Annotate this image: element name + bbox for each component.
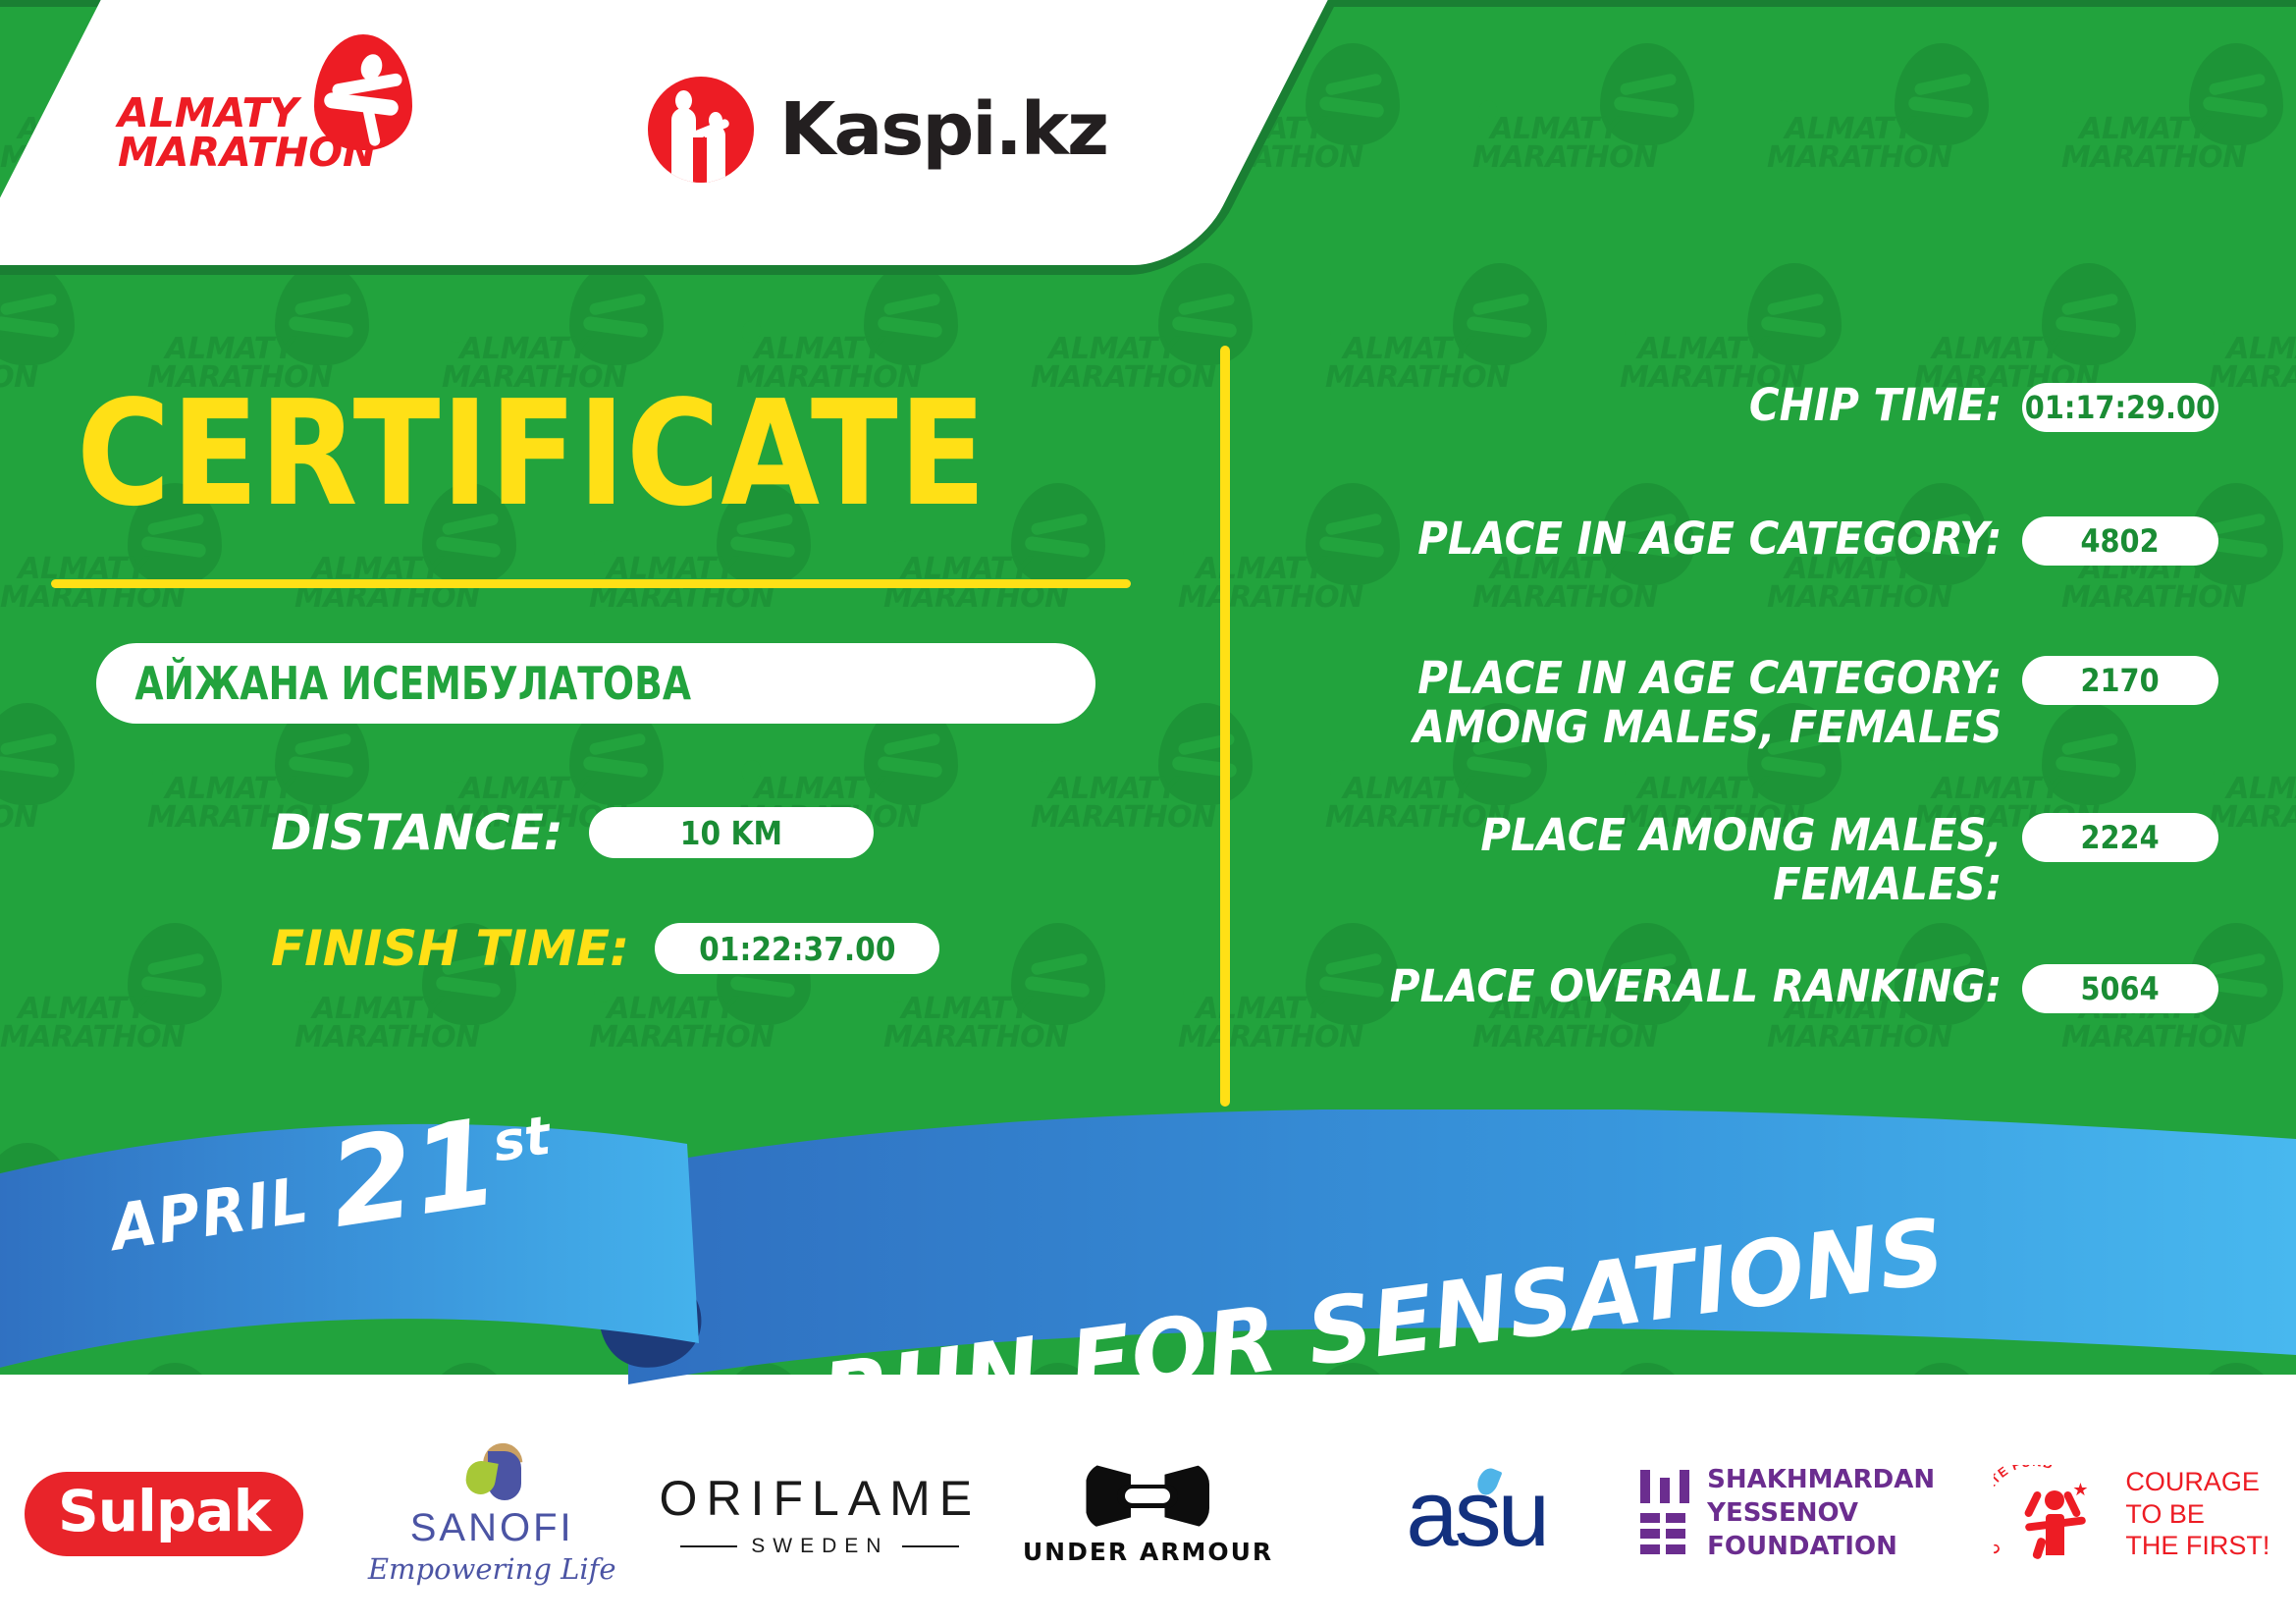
distance-value: 10 KM <box>680 814 782 852</box>
watermark-text: ALMATYMARATHON <box>1767 116 1914 172</box>
distance-row: DISTANCE: 10 KM <box>271 807 874 858</box>
sanofi-logo: SANOFI Empowering Life <box>368 1443 616 1586</box>
title-underline-rule <box>51 579 1131 588</box>
sponsor-courage-to-be-the-first: CORPORATE FUND ★ COURAGE TO BE THE FIRST… <box>1968 1445 2296 1583</box>
sanofi-tagline: Empowering Life <box>368 1552 616 1586</box>
athlete-name-field: АЙЖАНА ИСЕМБУЛАТОВА <box>96 643 1095 724</box>
oriflame-rule-left <box>680 1545 737 1547</box>
athlete-name-value: АЙЖАНА ИСЕМБУЛАТОВА <box>96 657 691 710</box>
courage-line2: TO BE <box>2125 1499 2205 1529</box>
asu-wordmark: asu <box>1406 1460 1546 1568</box>
watermark-text: ALMATYMARATHON <box>2061 116 2209 172</box>
almaty-marathon-drop-runner-icon <box>314 34 412 150</box>
watermark-tile: ALMATYMARATHON <box>1472 0 1767 221</box>
chip-time-label: CHIP TIME: <box>1328 381 2022 430</box>
finish-time-value: 01:22:37.00 <box>699 930 895 968</box>
kaspi-family-circle-icon <box>648 77 754 183</box>
sponsor-bar: Sulpak SANOFI Empowering Life ORIFLAME S… <box>0 1404 2296 1624</box>
yessenov-line1: SHAKHMARDAN YESSENOV <box>1707 1465 1935 1528</box>
place-overall-ranking-row: PLACE OVERALL RANKING: 5064 <box>1276 962 2218 1013</box>
yessenov-bar <box>1666 1544 1685 1554</box>
courage-fund-logo: CORPORATE FUND ★ COURAGE TO BE THE FIRST… <box>1994 1465 2269 1563</box>
oriflame-wordmark: ORIFLAME <box>660 1470 982 1527</box>
kaspi-gap-shape <box>693 137 707 183</box>
place-age-category-gender-value: 2170 <box>2081 662 2160 699</box>
yessenov-bar <box>1640 1544 1660 1554</box>
almaty-marathon-logo: ALMATYMARATHON <box>118 34 412 172</box>
kaspi-wordmark: Kaspi.kz <box>779 87 1107 172</box>
place-among-gender-value: 2224 <box>2081 819 2160 856</box>
sponsor-asu: asu <box>1312 1445 1640 1583</box>
under-armour-icon <box>1086 1463 1209 1530</box>
page-title: CERTIFICATE <box>77 381 987 526</box>
place-age-category-gender-row: PLACE IN AGE CATEGORY: AMONG MALES, FEMA… <box>1276 654 2218 751</box>
finish-time-label: FINISH TIME: <box>271 924 629 973</box>
place-age-category-value: 4802 <box>2081 522 2160 560</box>
vertical-divider <box>1220 346 1230 1107</box>
sponsor-yessenov: SHAKHMARDAN YESSENOV FOUNDATION <box>1640 1445 1968 1583</box>
yessenov-bar <box>1660 1478 1670 1503</box>
distance-value-pill: 10 KM <box>589 807 874 858</box>
place-among-gender-row: PLACE AMONG MALES, FEMALES: 2224 <box>1276 811 2218 908</box>
place-age-category-gender-value-pill: 2170 <box>2022 656 2218 705</box>
asu-logo: asu <box>1406 1460 1546 1568</box>
event-day-suffix: st <box>489 1105 555 1174</box>
place-overall-ranking-value: 5064 <box>2081 970 2160 1007</box>
sanofi-leaf-icon <box>456 1443 527 1502</box>
chip-time-value: 01:17:29.00 <box>2025 389 2216 426</box>
distance-label: DISTANCE: <box>271 808 563 857</box>
sanofi-wordmark: SANOFI <box>368 1506 616 1550</box>
place-age-category-gender-label: PLACE IN AGE CATEGORY: AMONG MALES, FEMA… <box>1328 654 2022 751</box>
sulpak-wordmark: Sulpak <box>58 1478 270 1544</box>
watermark-tile: ALMATYMARATHON <box>2061 0 2296 221</box>
yessenov-line2: FOUNDATION <box>1707 1532 1897 1561</box>
watermark-text: ALMATYMARATHON <box>1472 116 1620 172</box>
event-day: 21 <box>323 1109 504 1240</box>
sponsor-sanofi: SANOFI Empowering Life <box>328 1445 656 1583</box>
place-age-category-label: PLACE IN AGE CATEGORY: <box>1328 514 2022 564</box>
header-white-panel: ALMATYMARATHON Kaspi.kz <box>0 0 1348 275</box>
oriflame-sub-row: SWEDEN <box>660 1535 982 1558</box>
place-among-gender-value-pill: 2224 <box>2022 813 2218 862</box>
ua-center-hole-shape <box>1125 1489 1170 1503</box>
oriflame-logo: ORIFLAME SWEDEN <box>660 1470 982 1558</box>
place-age-category-row: PLACE IN AGE CATEGORY: 4802 <box>1276 514 2218 566</box>
sponsor-under-armour: UNDER ARMOUR <box>984 1445 1311 1583</box>
watermark-text: ALMATYMARATHON <box>2209 776 2296 832</box>
yessenov-bar <box>1666 1529 1685 1539</box>
yessenov-bar <box>1640 1529 1660 1539</box>
oriflame-rule-right <box>902 1545 959 1547</box>
sponsor-sulpak: Sulpak <box>0 1445 328 1583</box>
courage-wordmark: COURAGE TO BE THE FIRST! <box>2125 1466 2269 1563</box>
watermark-tile: ALMATYMARATHON <box>2209 220 2296 441</box>
place-age-category-value-pill: 4802 <box>2022 516 2218 566</box>
oriflame-sub-label: SWEDEN <box>751 1535 888 1558</box>
courage-star-icon: ★ <box>2072 1481 2088 1498</box>
place-among-gender-label: PLACE AMONG MALES, FEMALES: <box>1328 811 2022 908</box>
under-armour-logo: UNDER ARMOUR <box>1023 1463 1273 1566</box>
yessenov-bars-icon <box>1640 1470 1687 1558</box>
courage-line1: COURAGE <box>2125 1467 2260 1496</box>
watermark-tile: ALMATYMARATHON <box>1767 0 2061 221</box>
place-overall-ranking-label: PLACE OVERALL RANKING: <box>1328 962 2022 1011</box>
yessenov-wordmark: SHAKHMARDAN YESSENOV FOUNDATION <box>1707 1464 1968 1563</box>
finish-time-value-pill: 01:22:37.00 <box>655 923 939 974</box>
yessenov-bar <box>1680 1470 1689 1503</box>
yessenov-foundation-logo: SHAKHMARDAN YESSENOV FOUNDATION <box>1640 1464 1968 1563</box>
kaspi-logo: Kaspi.kz <box>648 71 1107 189</box>
certificate-canvas: ALMATYMARATHONALMATYMARATHONALMATYMARATH… <box>0 0 2296 1624</box>
courage-fund-icon: CORPORATE FUND ★ <box>1994 1465 2111 1563</box>
yessenov-bar <box>1640 1470 1650 1503</box>
yessenov-bar <box>1640 1513 1660 1523</box>
under-armour-wordmark: UNDER ARMOUR <box>1023 1538 1273 1566</box>
yessenov-bar <box>1666 1513 1685 1523</box>
sponsor-oriflame: ORIFLAME SWEDEN <box>656 1445 984 1583</box>
sulpak-logo: Sulpak <box>25 1472 303 1556</box>
courage-line3: THE FIRST! <box>2125 1531 2269 1560</box>
place-overall-ranking-value-pill: 5064 <box>2022 964 2218 1013</box>
chip-time-value-pill: 01:17:29.00 <box>2022 383 2218 432</box>
chip-time-row: CHIP TIME: 01:17:29.00 <box>1276 381 2218 432</box>
finish-time-row: FINISH TIME: 01:22:37.00 <box>271 923 939 974</box>
watermark-tile: ALMATYMARATHON <box>2209 660 2296 881</box>
watermark-text: ALMATYMARATHON <box>2209 336 2296 392</box>
runner-body-shape <box>323 91 399 116</box>
